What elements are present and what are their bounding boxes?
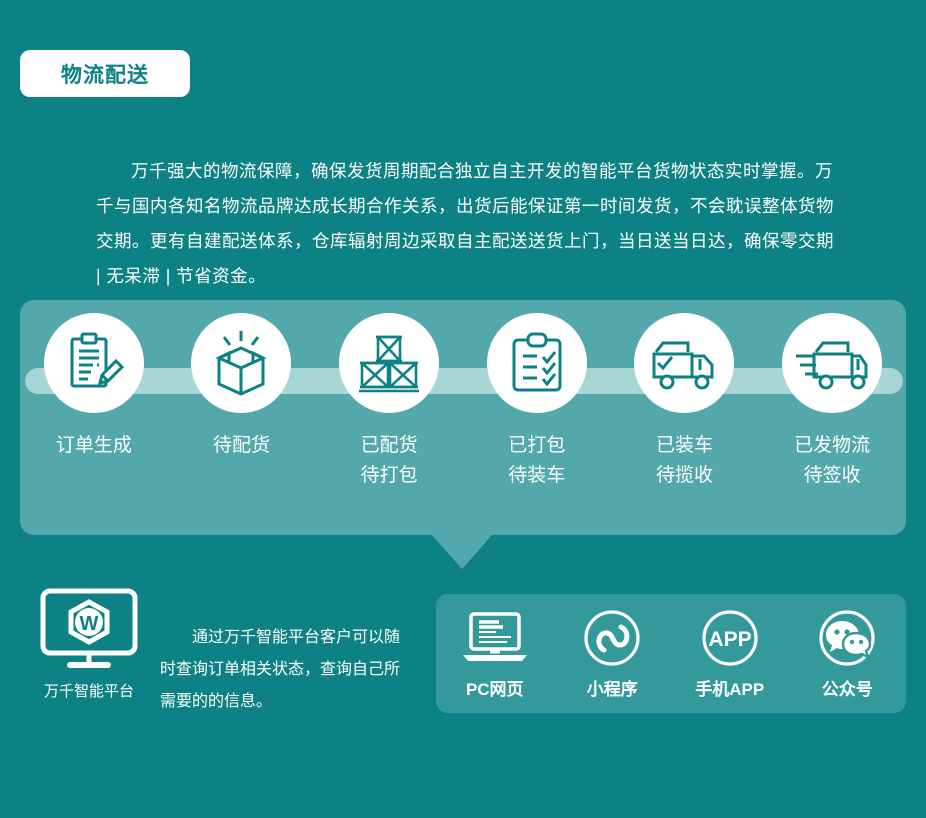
clipboard-pencil-icon	[61, 330, 127, 396]
laptop-icon	[460, 607, 530, 669]
truck-moving-icon	[794, 334, 870, 392]
channel-label: 小程序	[587, 675, 638, 700]
step-label: 待配货	[213, 431, 270, 461]
access-channels-panel: PC网页 小程序 APP 手机APP	[436, 594, 906, 713]
logistics-steps-panel: 订单生成 待配货	[20, 300, 906, 535]
channel-item-official-account[interactable]: 公众号	[793, 607, 901, 700]
channel-item-pc-web[interactable]: PC网页	[441, 607, 549, 700]
step-item-awaiting-allocation[interactable]: 待配货	[170, 313, 312, 461]
step-item-order-created[interactable]: 订单生成	[23, 313, 165, 461]
steps-list: 订单生成 待配货	[20, 300, 906, 535]
step-label: 已发物流 待签收	[794, 431, 870, 491]
open-box-icon	[207, 329, 275, 397]
app-circle-icon: APP	[701, 607, 759, 669]
step-item-packed-awaiting-loading[interactable]: 已打包 待装车	[466, 313, 608, 491]
bottom-paragraph: 通过万千智能平台客户可以随时查询订单相关状态，查询自己所需要的的信息。	[160, 622, 412, 718]
step-icon-bubble	[339, 313, 439, 413]
step-label: 已装车 待揽收	[656, 431, 713, 491]
intro-paragraph: 万千强大的物流保障，确保发货周期配合独立自主开发的智能平台货物状态实时掌握。万千…	[96, 154, 836, 294]
step-icon-bubble	[634, 313, 734, 413]
step-label: 已配货 待打包	[361, 431, 418, 491]
section-title-pill: 物流配送	[20, 50, 190, 97]
channel-label: PC网页	[466, 675, 524, 700]
channel-item-mini-program[interactable]: 小程序	[558, 607, 666, 700]
platform-label: 万千智能平台	[44, 680, 134, 701]
panel-arrow-indicator	[432, 535, 492, 569]
channel-label: 公众号	[822, 675, 873, 700]
app-circle-text: APP	[708, 628, 751, 651]
page-title: 物流配送	[61, 59, 149, 89]
step-label: 订单生成	[56, 431, 132, 461]
step-icon-bubble	[191, 313, 291, 413]
svg-text:W: W	[80, 613, 99, 635]
clipboard-checklist-icon	[506, 330, 568, 396]
step-icon-bubble	[487, 313, 587, 413]
channel-label: 手机APP	[695, 675, 764, 700]
platform-block: W 万千智能平台	[37, 588, 141, 701]
step-item-allocated-awaiting-packing[interactable]: 已配货 待打包	[318, 313, 460, 491]
step-icon-bubble	[44, 313, 144, 413]
step-item-shipped-awaiting-signature[interactable]: 已发物流 待签收	[761, 313, 903, 491]
wechat-bubbles-icon	[818, 607, 876, 669]
stacked-crates-icon	[354, 331, 424, 395]
step-icon-bubble	[782, 313, 882, 413]
truck-check-icon	[648, 334, 720, 392]
step-item-loaded-awaiting-pickup[interactable]: 已装车 待揽收	[613, 313, 755, 491]
mini-program-icon	[583, 607, 641, 669]
monitor-w-logo-icon: W	[39, 588, 139, 672]
step-label: 已打包 待装车	[508, 431, 565, 491]
channel-item-mobile-app[interactable]: APP 手机APP	[676, 607, 784, 700]
